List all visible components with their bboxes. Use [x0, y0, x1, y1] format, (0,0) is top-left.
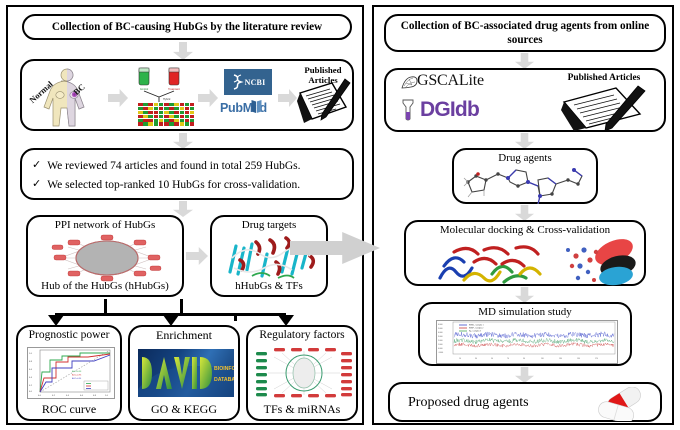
svg-text:70: 70 [507, 358, 509, 360]
svg-text:0.8: 0.8 [93, 395, 97, 397]
proposed-drug-agents-box: Proposed drug agents [388, 382, 662, 422]
arrow-down-docking-to-md [515, 287, 534, 303]
drug-targets-title: Drug targets [212, 217, 326, 232]
arrow-down-drug-agents-to-docking [515, 205, 534, 221]
data-sources-box: Normal BC Control Treatment Hybrid [20, 59, 354, 131]
regulatory-factors-title: Regulatory factors [248, 327, 356, 342]
svg-text:AUC=0.94: AUC=0.94 [72, 377, 82, 380]
svg-text:Rg - Complex 3: Rg - Complex 3 [469, 331, 481, 333]
svg-text:0.0: 0.0 [38, 395, 42, 397]
svg-text:6.000: 6.000 [438, 324, 443, 326]
svg-text:50: 50 [491, 358, 493, 360]
prognostic-power-title: Prognostic power [18, 327, 120, 342]
svg-text:Hybrid: Hybrid [163, 98, 171, 101]
svg-text:1.000: 1.000 [438, 344, 443, 346]
microarray-experiment-icon: Control Treatment Hybrid [132, 66, 194, 128]
david-database-logo: BIOINFO DATABASE [138, 349, 234, 397]
right-panel: Collection of BC-associated drug agents … [372, 5, 674, 425]
svg-text:2.000: 2.000 [438, 340, 443, 342]
right-panel-header-text: Collection of BC-associated drug agents … [386, 16, 664, 47]
published-articles-label-left: Published Articles [294, 65, 352, 77]
enrichment-box: Enrichment BIOINFO DATABASE [128, 325, 240, 421]
svg-text:1.0: 1.0 [29, 353, 33, 355]
svg-text:130: 130 [559, 358, 562, 360]
check-icon: ✓ [32, 179, 41, 190]
arrow-down-md-to-proposed [515, 367, 534, 383]
ligand-binding-icon [564, 236, 640, 286]
right-panel-header-box: Collection of BC-associated drug agents … [384, 14, 666, 52]
normal-vs-bc-body-figure: Normal BC [30, 65, 104, 129]
drug-targets-box: Drug targets [210, 215, 328, 297]
molecular-docking-title: Molecular docking & Cross-validation [406, 222, 644, 237]
molecular-docking-box: Molecular docking & Cross-validation [404, 220, 646, 286]
drug-agents-box: Drug agents [452, 148, 598, 204]
regulatory-network [254, 347, 354, 399]
regulatory-factors-box: Regulatory factors [246, 325, 358, 421]
ppi-network-caption: Hub of the HubGs (hHubGs) [28, 280, 182, 293]
enrichment-caption: GO & KEGG [130, 403, 238, 417]
regulatory-factors-caption: TFs & miRNAs [248, 403, 356, 417]
enrichment-title: Enrichment [130, 327, 238, 343]
prognostic-power-box: Prognostic power 1.00.80.6 0.40.20.0 0.0… [16, 325, 122, 421]
docked-protein-icon [434, 238, 554, 286]
branch-bar-3 [234, 313, 286, 316]
arrow-down-header-to-sources-right [515, 53, 534, 69]
drug-agents-title: Drug agents [454, 150, 596, 165]
svg-text:0.000: 0.000 [438, 348, 443, 350]
findings-list: ✓ We reviewed 74 articles and found in t… [22, 150, 352, 191]
md-simulation-chart: 6.0005.0004.000 3.0002.0001.000 0.000-1.… [436, 320, 618, 364]
findings-box: ✓ We reviewed 74 articles and found in t… [20, 148, 354, 200]
prognostic-power-caption: ROC curve [18, 403, 120, 417]
svg-text:0.0: 0.0 [29, 391, 33, 393]
md-simulation-box: MD simulation study 6.0005.0004.000 3.00… [418, 302, 632, 366]
svg-text:RMSD - Complex 1: RMSD - Complex 1 [469, 325, 484, 327]
finding-text: We selected top-ranked 10 HubGs for cros… [47, 179, 300, 192]
dgidb-label: DGIdb [420, 98, 479, 122]
svg-text:110: 110 [541, 358, 544, 360]
svg-text:3.000: 3.000 [438, 336, 443, 338]
finding-item: ✓ We selected top-ranked 10 HubGs for cr… [32, 179, 344, 192]
svg-text:4.000: 4.000 [438, 332, 443, 334]
workflow-diagram: Collection of BC-causing HubGs by the li… [0, 0, 680, 430]
online-sources-box: GSCALite DGIdb Published Articles [384, 68, 666, 132]
svg-text:150: 150 [577, 358, 580, 360]
svg-text:-1.000: -1.000 [438, 352, 443, 354]
svg-text:1.0: 1.0 [105, 395, 109, 397]
left-panel-header-box: Collection of BC-causing HubGs by the li… [22, 14, 352, 40]
svg-text:AUC=0.96: AUC=0.96 [72, 374, 82, 377]
check-icon: ✓ [32, 160, 41, 171]
svg-text:BIOINFO: BIOINFO [214, 366, 234, 372]
roc-curve-chart: 1.00.80.6 0.40.20.0 0.00.20.4 0.60.81.0 … [27, 347, 115, 399]
ppi-network-title: PPI network of HubGs [28, 217, 182, 232]
svg-text:0.6: 0.6 [80, 395, 84, 397]
svg-text:RMSF - Complex 2: RMSF - Complex 2 [469, 328, 483, 330]
svg-text:Control: Control [140, 87, 149, 91]
svg-text:90: 90 [523, 358, 525, 360]
branch-bar-1 [55, 313, 105, 316]
finding-item: ✓ We reviewed 74 articles and found in t… [32, 160, 344, 173]
drug-targets-caption: hHubGs & TFs [212, 280, 326, 293]
svg-text:10: 10 [459, 358, 461, 360]
svg-text:Treatment: Treatment [168, 87, 180, 91]
svg-text:0.2: 0.2 [29, 385, 33, 387]
arrow-down-sources-to-drug-agents [515, 133, 534, 149]
dna-helix-icon [231, 73, 244, 91]
article-document-icon-right [560, 84, 652, 132]
branch-stem-mid [180, 299, 183, 315]
arrow-right-ppi-to-drug-targets [186, 247, 208, 265]
svg-text:DATABASE: DATABASE [214, 377, 234, 383]
svg-text:170: 170 [595, 358, 598, 360]
proposed-drug-agents-title: Proposed drug agents [408, 395, 529, 411]
svg-text:0.2: 0.2 [52, 395, 56, 397]
arrow-right-body-to-microarray [108, 89, 128, 107]
left-panel-header-text: Collection of BC-causing HubGs by the li… [24, 16, 350, 35]
md-simulation-title: MD simulation study [420, 304, 630, 319]
finding-text: We reviewed 74 articles and found in tot… [47, 160, 300, 173]
svg-text:0.4: 0.4 [29, 377, 33, 379]
capsule-pills-icon [588, 387, 654, 421]
book-icon [251, 99, 262, 114]
arrow-down-header-to-sources [173, 42, 193, 60]
ncbi-label: NCBI [245, 78, 266, 87]
arrow-right-databases-to-articles [278, 89, 297, 107]
left-panel: Collection of BC-causing HubGs by the li… [6, 5, 364, 425]
svg-text:0.8: 0.8 [29, 361, 33, 363]
arrow-right-microarray-to-databases [198, 89, 218, 107]
gscalite-icon [400, 74, 418, 92]
molecule-structure-icon [460, 164, 594, 204]
svg-text:5.000: 5.000 [438, 328, 443, 330]
microarray-grid [138, 103, 194, 126]
svg-text:0.4: 0.4 [66, 395, 70, 397]
flask-icon [398, 98, 418, 124]
article-document-icon [296, 77, 352, 127]
svg-text:AUC=0.98: AUC=0.98 [72, 370, 82, 373]
ppi-network-box: PPI network of HubGs [26, 215, 184, 297]
protein-structure-icon [222, 232, 320, 282]
gscalite-label: GSCALite [417, 72, 484, 90]
svg-text:0.6: 0.6 [29, 369, 33, 371]
arrow-down-sources-to-findings [173, 133, 193, 149]
ncbi-logo: NCBI [224, 69, 272, 95]
arrow-down-findings-to-ppi [173, 201, 193, 217]
ppi-network-graphic [46, 233, 168, 283]
svg-text:30: 30 [475, 358, 477, 360]
